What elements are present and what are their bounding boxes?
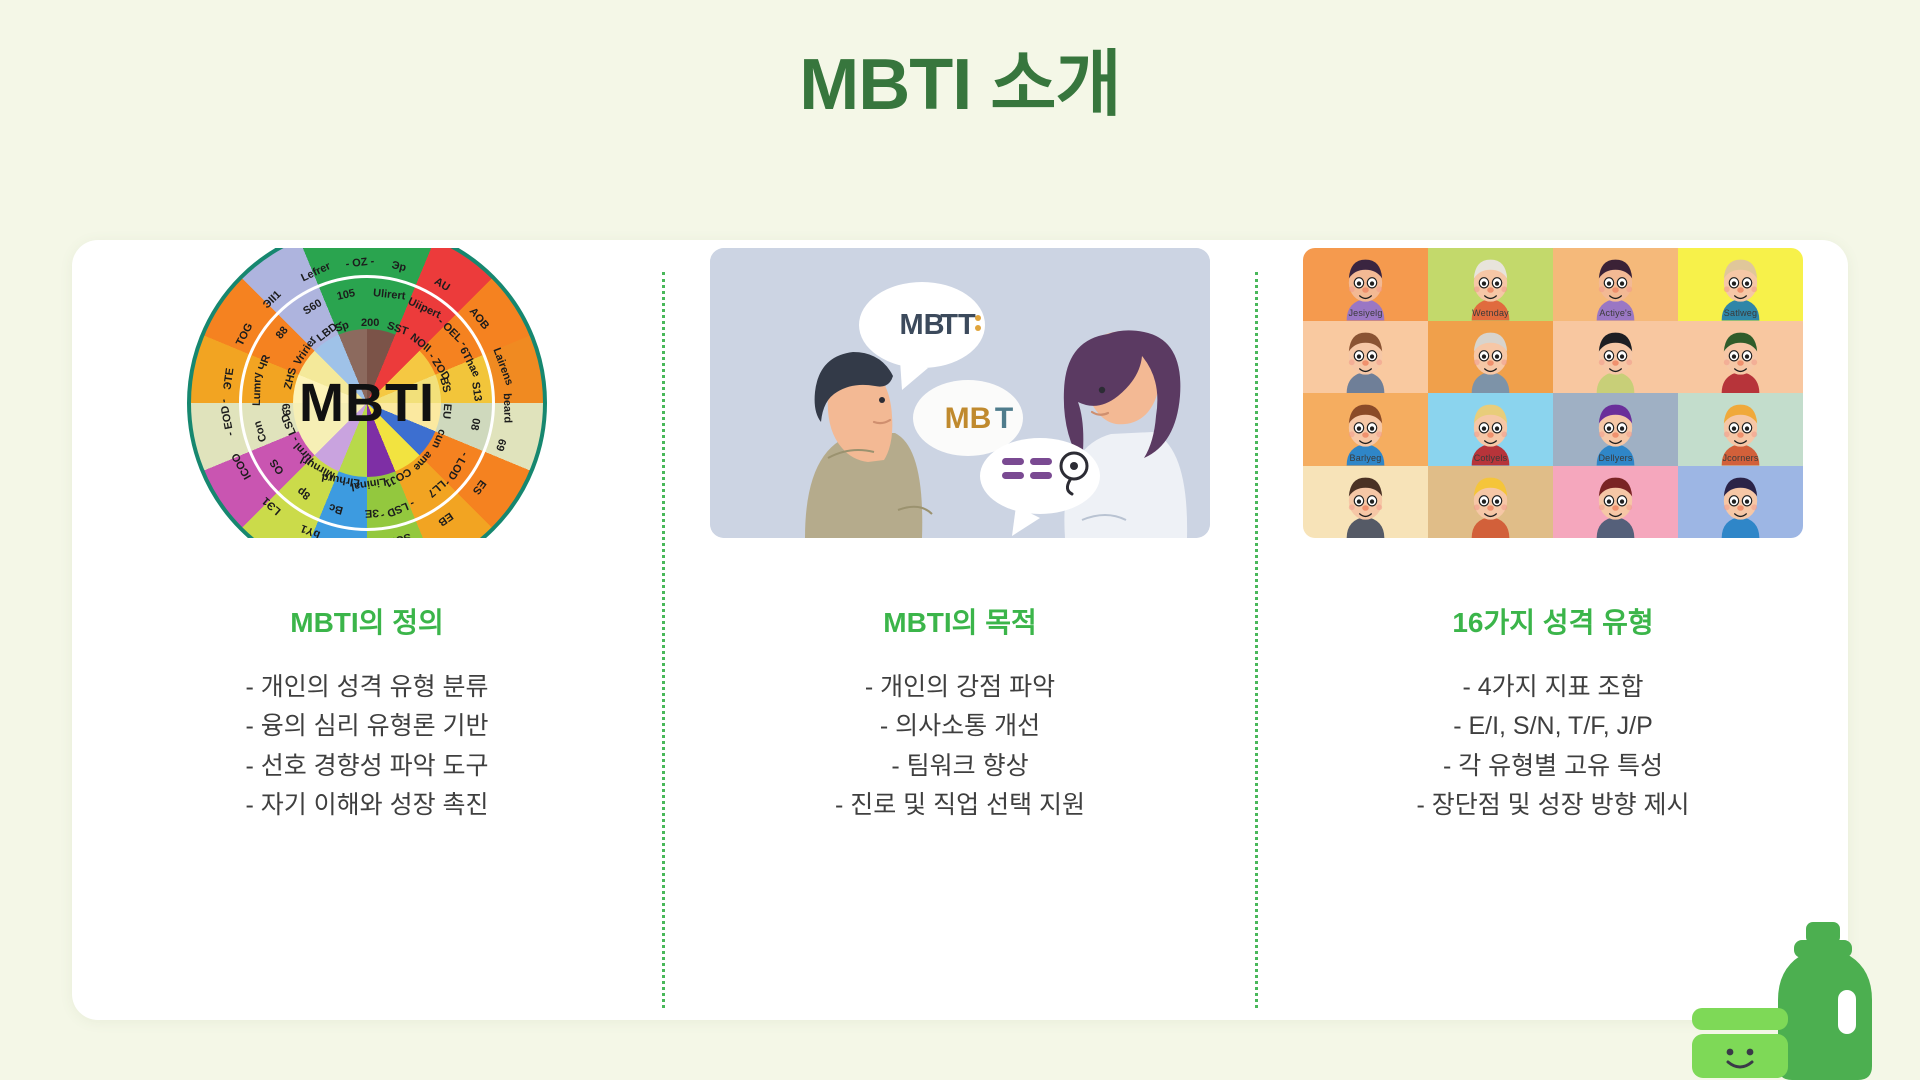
avatar-name-label: Wetnday [1428, 308, 1553, 318]
list-item: - 4가지 지표 조합 [1416, 668, 1689, 708]
list-item: - E/I, S/N, T/F, J/P [1416, 707, 1689, 747]
list-item: - 자기 이해와 성장 촉진 [245, 786, 488, 826]
column-2-list: - 개인의 강점 파악 - 의사소통 개선 - 팀워크 향상 - 진로 및 직업… [835, 668, 1085, 826]
avatar-name-label: Dellyers [1553, 453, 1678, 463]
column-1-heading: MBTI의 정의 [290, 606, 444, 640]
list-item: - 융의 심리 유형론 기반 [245, 707, 488, 747]
avatar-cell [1428, 466, 1553, 539]
avatar-face-icon [1303, 466, 1428, 539]
two-people-talking-graphic: MB TT MB T [710, 248, 1210, 538]
column-3-list: - 4가지 지표 조합 - E/I, S/N, T/F, J/P - 각 유형별… [1416, 668, 1689, 826]
avatar-face-icon [1678, 466, 1803, 539]
avatar-cell [1303, 466, 1428, 539]
avatar-cell [1303, 321, 1428, 394]
avatar-name-label: Actiye's [1553, 308, 1678, 318]
conversation-illustration: MB TT MB T [710, 248, 1210, 538]
avatar-cell: Actiye's [1553, 248, 1678, 321]
detergent-bottle-icon [1688, 920, 1888, 1080]
list-item: - 의사소통 개선 [835, 707, 1085, 747]
column-sixteen-types: JesiyelgWetndayActiye'sSatlwegBarlyegCot… [1258, 240, 1848, 1020]
svg-text:MB: MB [899, 309, 944, 341]
avatar-cell: Wetnday [1428, 248, 1553, 321]
column-1-list: - 개인의 성격 유형 분류 - 융의 심리 유형론 기반 - 선호 경향성 파… [245, 668, 488, 826]
column-3-heading: 16가지 성격 유형 [1452, 606, 1653, 640]
avatar-face-icon [1678, 321, 1803, 394]
brand-logo [1688, 920, 1888, 1080]
wheel-center-label: MBTI [187, 248, 547, 538]
avatar-cell: Dellyers [1553, 393, 1678, 466]
avatar-name-label: Cotlyels [1428, 453, 1553, 463]
avatar-cell: Barlyeg [1303, 393, 1428, 466]
avatar-name-label: Jesiyelg [1303, 308, 1428, 318]
mbti-wheel-illustration: MBTI 200UlirertЭpSSTUiipertAUNOII- OEL -… [117, 248, 617, 538]
avatar-cell: Jcorners [1678, 393, 1803, 466]
avatar-name-label: Barlyeg [1303, 453, 1428, 463]
smile-eye-left [1727, 1049, 1734, 1056]
svg-text:T: T [995, 402, 1013, 435]
list-item: - 장단점 및 성장 방향 제시 [1416, 786, 1689, 826]
list-item: - 선호 경향성 파악 도구 [245, 747, 488, 787]
avatar-cell: Jesiyelg [1303, 248, 1428, 321]
content-card: MBTI 200UlirertЭpSSTUiipertAUNOII- OEL -… [72, 240, 1848, 1020]
avatar-cell [1553, 466, 1678, 539]
avatar-face-icon [1428, 466, 1553, 539]
list-item: - 각 유형별 고유 특성 [1416, 747, 1689, 787]
column-definition: MBTI 200UlirertЭpSSTUiipertAUNOII- OEL -… [72, 240, 662, 1020]
avatar-cell [1678, 321, 1803, 394]
avatar-cell [1553, 321, 1678, 394]
list-item: - 진로 및 직업 선택 지원 [835, 786, 1085, 826]
page-title: MBTI 소개 [0, 0, 1920, 128]
list-item: - 개인의 성격 유형 분류 [245, 668, 488, 708]
avatar-name-label: Jcorners [1678, 453, 1803, 463]
mbti-color-wheel: MBTI 200UlirertЭpSSTUiipertAUNOII- OEL -… [187, 248, 547, 538]
avatar-face-icon [1303, 321, 1428, 394]
avatar-face-icon [1553, 321, 1678, 394]
svg-text:TT: TT [940, 309, 976, 341]
avatar-cell: Satlweg [1678, 248, 1803, 321]
avatar-cell [1678, 466, 1803, 539]
smile-eye-right [1747, 1049, 1754, 1056]
avatar-grid: JesiyelgWetndayActiye'sSatlwegBarlyegCot… [1303, 248, 1803, 538]
list-item: - 개인의 강점 파악 [835, 668, 1085, 708]
column-2-heading: MBTI의 목적 [883, 606, 1037, 640]
avatar-grid-illustration: JesiyelgWetndayActiye'sSatlwegBarlyegCot… [1303, 248, 1803, 538]
avatar-face-icon [1428, 321, 1553, 394]
column-purpose: MB TT MB T [665, 240, 1255, 1020]
avatar-cell [1428, 321, 1553, 394]
avatar-cell: Cotlyels [1428, 393, 1553, 466]
svg-text:MB: MB [945, 402, 992, 435]
avatar-name-label: Satlweg [1678, 308, 1803, 318]
avatar-face-icon [1553, 466, 1678, 539]
list-item: - 팀워크 향상 [835, 747, 1085, 787]
